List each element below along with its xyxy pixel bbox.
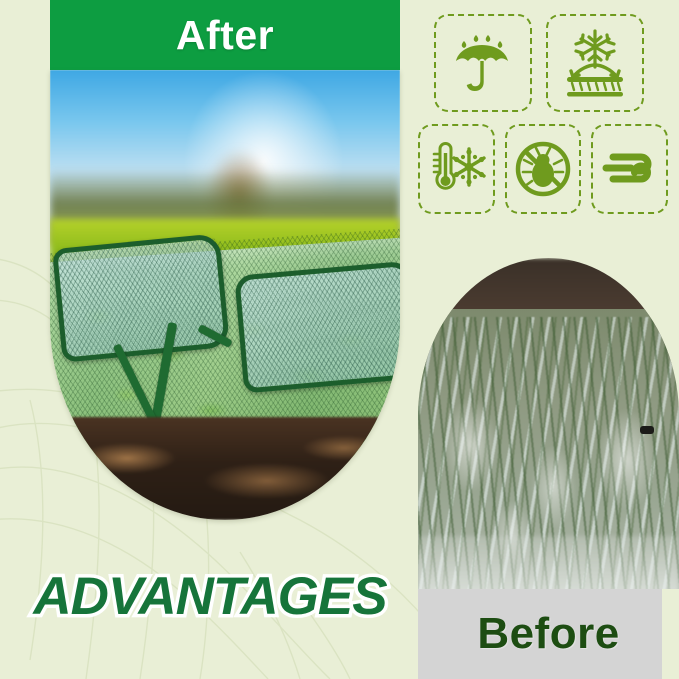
feature-cold-resistant — [418, 124, 495, 214]
edge-dash-mark — [640, 426, 654, 434]
feature-icon-row-2 — [418, 124, 668, 214]
feature-pest-proof — [505, 124, 582, 214]
thermometer-snowflake-icon — [423, 139, 489, 199]
after-label: After — [176, 12, 274, 59]
before-band: Before — [418, 589, 679, 679]
advantages-headline: ADVANTAGES — [0, 560, 420, 632]
feature-frost-protection — [546, 14, 644, 112]
after-banner: After — [50, 0, 400, 70]
umbrella-rain-icon — [450, 30, 516, 96]
feature-icon-grid — [418, 14, 668, 242]
snowflake-arch-icon — [559, 27, 631, 99]
after-photo — [50, 70, 400, 520]
before-label: Before — [477, 609, 619, 659]
advantages-label: ADVANTAGES — [33, 566, 386, 627]
right-edge-strip — [662, 589, 679, 679]
no-pest-icon — [512, 138, 574, 200]
cover-flap-right — [234, 260, 400, 393]
feature-rainproof — [434, 14, 532, 112]
cover-flap-left — [52, 233, 230, 362]
wind-lines-icon — [601, 143, 659, 195]
feature-icon-row-1 — [434, 14, 668, 112]
feature-windproof — [591, 124, 668, 214]
photo-soil — [50, 417, 400, 521]
poster-canvas: After ADVANTAGES — [0, 0, 679, 679]
